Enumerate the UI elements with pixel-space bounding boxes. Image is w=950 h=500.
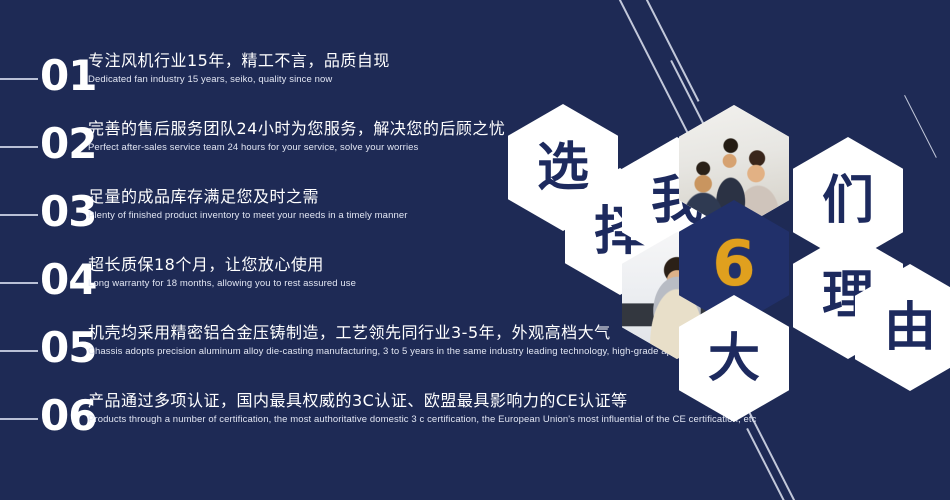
hex-label-number-six: 6	[712, 233, 755, 295]
hex-label: 们	[822, 175, 874, 227]
hex-label: 由	[884, 302, 936, 354]
promo-banner: 01 专注风机行业15年，精工不言，品质自现 Dedicated fan ind…	[0, 0, 950, 500]
hex-label: 大	[708, 333, 760, 385]
hexagon-cluster: 选 择 我 6 大 们 理 由	[0, 0, 950, 500]
hex-label: 选	[537, 142, 589, 194]
